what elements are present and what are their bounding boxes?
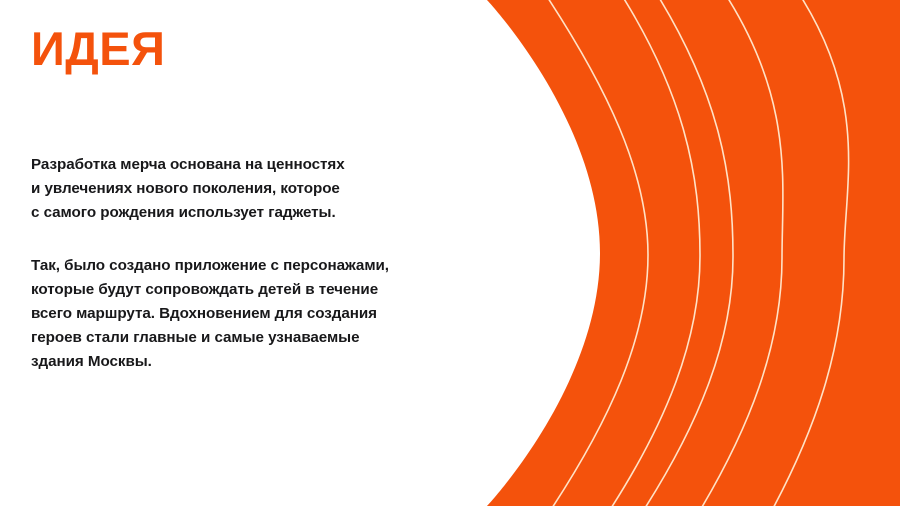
slide-canvas: ИДЕЯ Разработка мерча основана на ценнос… <box>0 0 900 506</box>
decor-arc-4 <box>688 0 783 506</box>
decor-arc-1 <box>536 0 648 506</box>
paragraph-1: Разработка мерча основана на ценностях и… <box>31 153 501 226</box>
orange-shape-fill <box>487 0 900 506</box>
body-copy: Разработка мерча основана на ценностях и… <box>31 153 501 375</box>
slide-content: ИДЕЯ Разработка мерча основана на ценнос… <box>0 0 520 506</box>
decor-arc-2 <box>598 0 700 506</box>
page-title: ИДЕЯ <box>31 24 165 73</box>
paragraph-2: Так, было создано приложение с персонажа… <box>31 254 501 375</box>
decor-arc-5 <box>760 0 849 506</box>
decor-arc-3 <box>632 0 733 506</box>
